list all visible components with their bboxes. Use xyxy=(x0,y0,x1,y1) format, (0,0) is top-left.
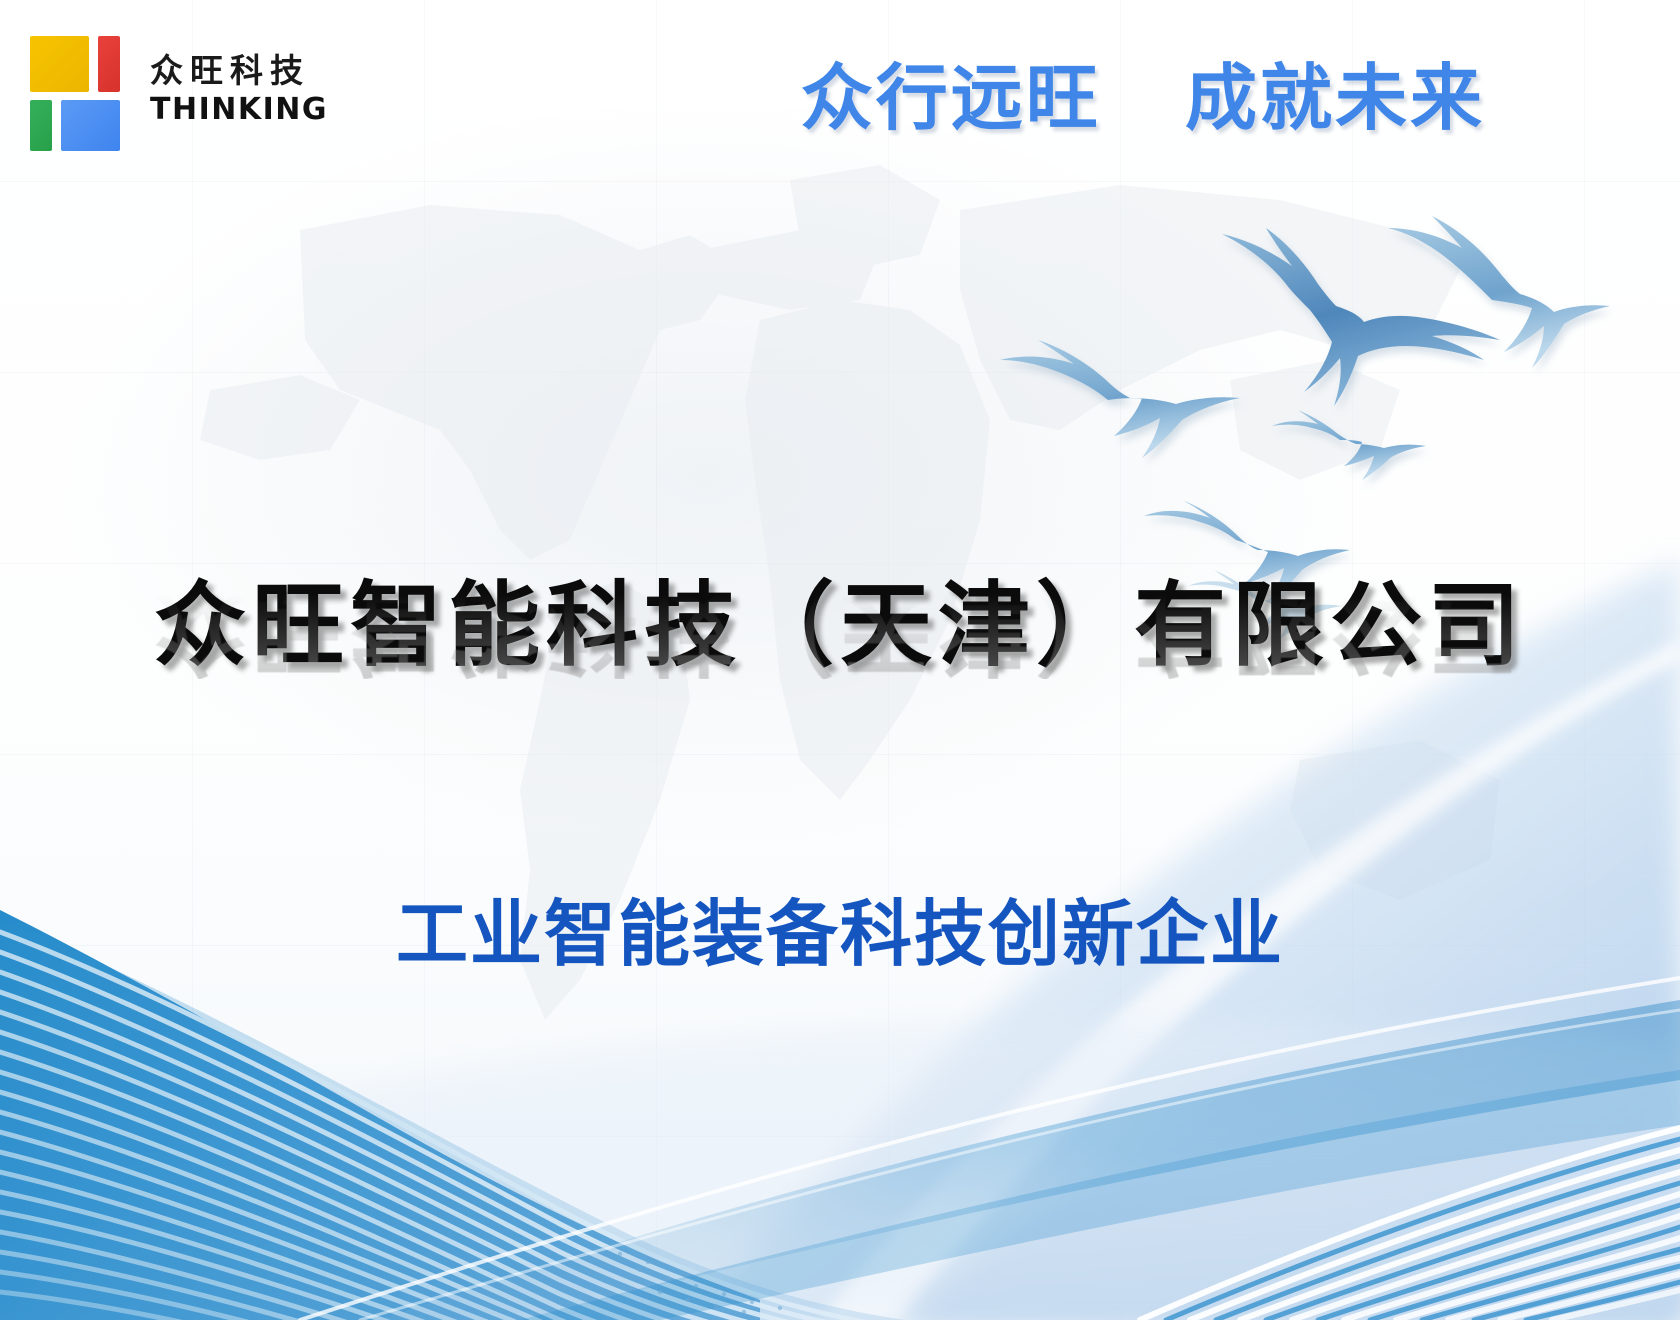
logo-blue-block xyxy=(61,100,120,151)
presentation-slide: 众旺科技 THINKING 众行远旺 成就未来 xyxy=(0,0,1680,1320)
header-tagline: 众行远旺 成就未来 xyxy=(801,62,1485,134)
logo-english-name: THINKING xyxy=(150,95,328,125)
logo-wordmark: 众旺科技 THINKING xyxy=(148,54,328,125)
logo-green-block xyxy=(30,100,52,151)
logo-yellow-block xyxy=(30,36,89,92)
four-color-square-logo-icon xyxy=(30,30,126,148)
company-logo: 众旺科技 THINKING xyxy=(30,30,328,148)
logo-red-block xyxy=(98,36,120,92)
company-subtitle: 工业智能装备科技创新企业 xyxy=(0,898,1680,970)
logo-chinese-name: 众旺科技 xyxy=(150,54,328,87)
title-block: 众旺智能科技（天津）有限公司 众旺智能科技（天津）有限公司 xyxy=(0,578,1680,775)
company-title-reflection: 众旺智能科技（天津）有限公司 xyxy=(0,582,1680,679)
